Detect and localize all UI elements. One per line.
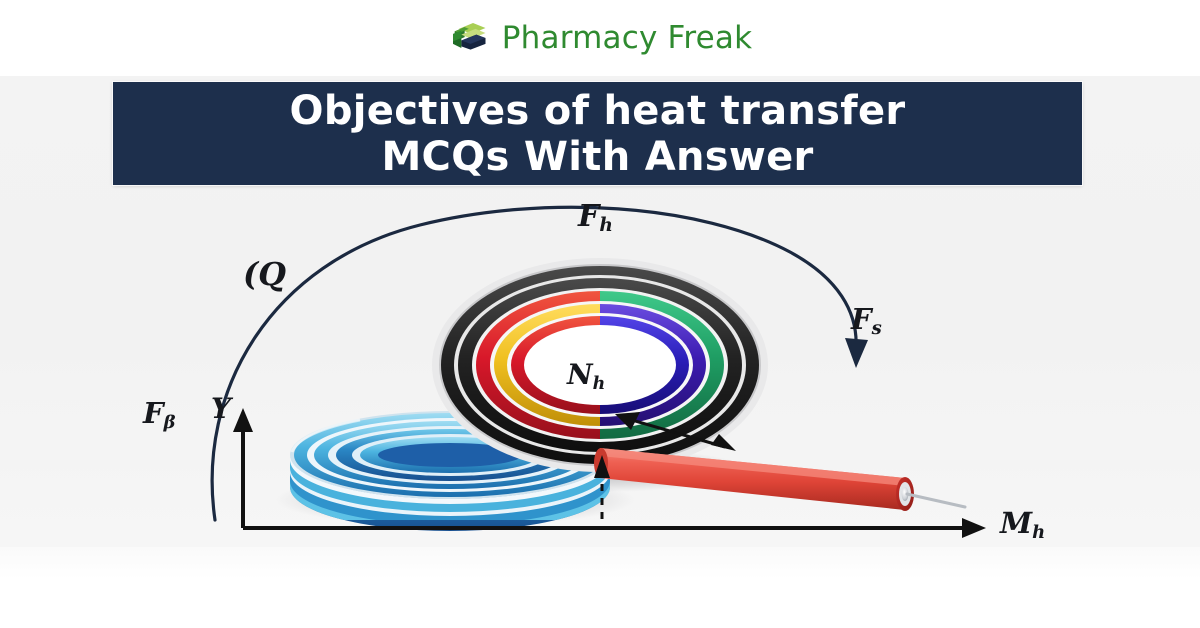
label-f-h-sub: h	[599, 215, 613, 236]
label-f-beta: Fβ	[143, 399, 176, 432]
page-title-line-1: Objectives of heat transfer	[290, 88, 906, 134]
label-f-beta-base: F	[143, 396, 164, 430]
label-m-h-sub: h	[1032, 522, 1045, 543]
brand-header: Pharmacy Freak	[0, 0, 1200, 76]
label-n-h-sub: h	[593, 374, 606, 394]
label-q-base: (Q	[243, 255, 286, 293]
label-f-beta-sub: β	[164, 412, 176, 433]
stacked-books-logo-icon	[448, 18, 488, 58]
label-f-s-base: F	[851, 302, 872, 336]
red-rod	[594, 448, 965, 511]
label-y: Y	[211, 395, 231, 423]
page-title-line-2: MCQs With Answer	[381, 134, 813, 180]
label-m-h-base: M	[1000, 506, 1032, 540]
rod-wire	[907, 494, 965, 507]
x-axis-arrowhead	[962, 518, 986, 538]
poster-page: Pharmacy Freak Objectives of heat transf…	[0, 0, 1200, 628]
y-axis-arrowhead	[233, 408, 253, 432]
title-banner: Objectives of heat transfer MCQs With An…	[113, 82, 1082, 185]
label-f-s-sub: s	[872, 318, 882, 339]
label-n-h: Nh	[567, 361, 605, 393]
flux-arc-arrowhead	[845, 338, 868, 368]
label-q: (Q	[243, 258, 286, 290]
label-m-h: Mh	[1000, 509, 1045, 542]
label-f-h: Fh	[578, 202, 613, 236]
label-f-h-base: F	[578, 199, 599, 234]
label-y-base: Y	[211, 392, 231, 425]
label-n-h-base: N	[567, 358, 593, 391]
brand-name: Pharmacy Freak	[502, 23, 752, 54]
label-f-s: Fs	[851, 305, 882, 338]
